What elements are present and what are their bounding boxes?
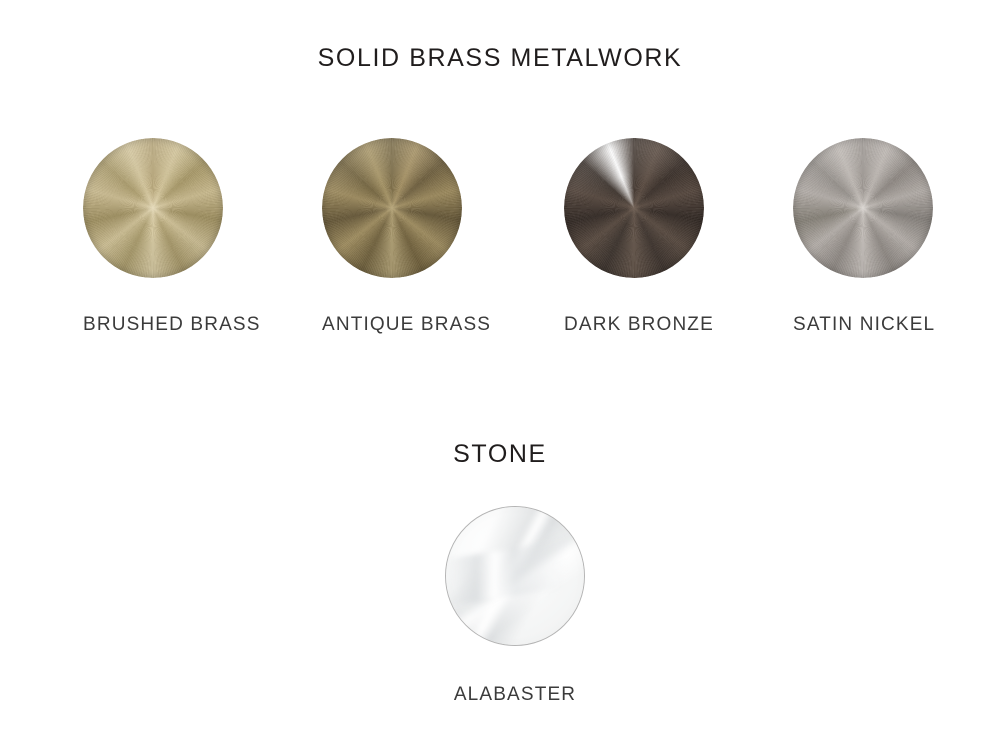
swatch-label-brushed-brass: BRUSHED BRASS: [83, 314, 223, 336]
disc-rim-shadow: [793, 138, 933, 278]
swatch-label-satin-nickel: SATIN NICKEL: [793, 314, 933, 336]
disc-rim-shadow: [564, 138, 704, 278]
stone-edge-shading: [446, 507, 584, 645]
swatch-dark-bronze[interactable]: DARK BRONZE: [564, 138, 704, 336]
swatch-disc-satin-nickel[interactable]: [793, 138, 933, 278]
disc-rim-shadow: [83, 138, 223, 278]
section-title-metalwork: SOLID BRASS METALWORK: [0, 44, 1000, 73]
disc-rim-shadow: [322, 138, 462, 278]
swatch-row-metalwork: BRUSHED BRASS ANTIQUE BRASS DARK BRONZE: [0, 138, 1000, 338]
swatch-satin-nickel[interactable]: SATIN NICKEL: [793, 138, 933, 336]
swatch-label-dark-bronze: DARK BRONZE: [564, 314, 704, 336]
swatch-disc-dark-bronze[interactable]: [564, 138, 704, 278]
swatch-label-antique-brass: ANTIQUE BRASS: [322, 314, 462, 336]
swatch-antique-brass[interactable]: ANTIQUE BRASS: [322, 138, 462, 336]
swatch-alabaster[interactable]: ALABASTER: [445, 506, 585, 706]
swatch-label-alabaster: ALABASTER: [445, 684, 585, 706]
swatch-disc-brushed-brass[interactable]: [83, 138, 223, 278]
material-palette-board: SOLID BRASS METALWORK BRUSHED BRASS ANTI…: [0, 0, 1000, 739]
swatch-brushed-brass[interactable]: BRUSHED BRASS: [83, 138, 223, 336]
swatch-row-stone: ALABASTER: [0, 506, 1000, 706]
section-title-stone: STONE: [0, 440, 1000, 469]
swatch-disc-antique-brass[interactable]: [322, 138, 462, 278]
swatch-disc-alabaster[interactable]: [445, 506, 585, 646]
